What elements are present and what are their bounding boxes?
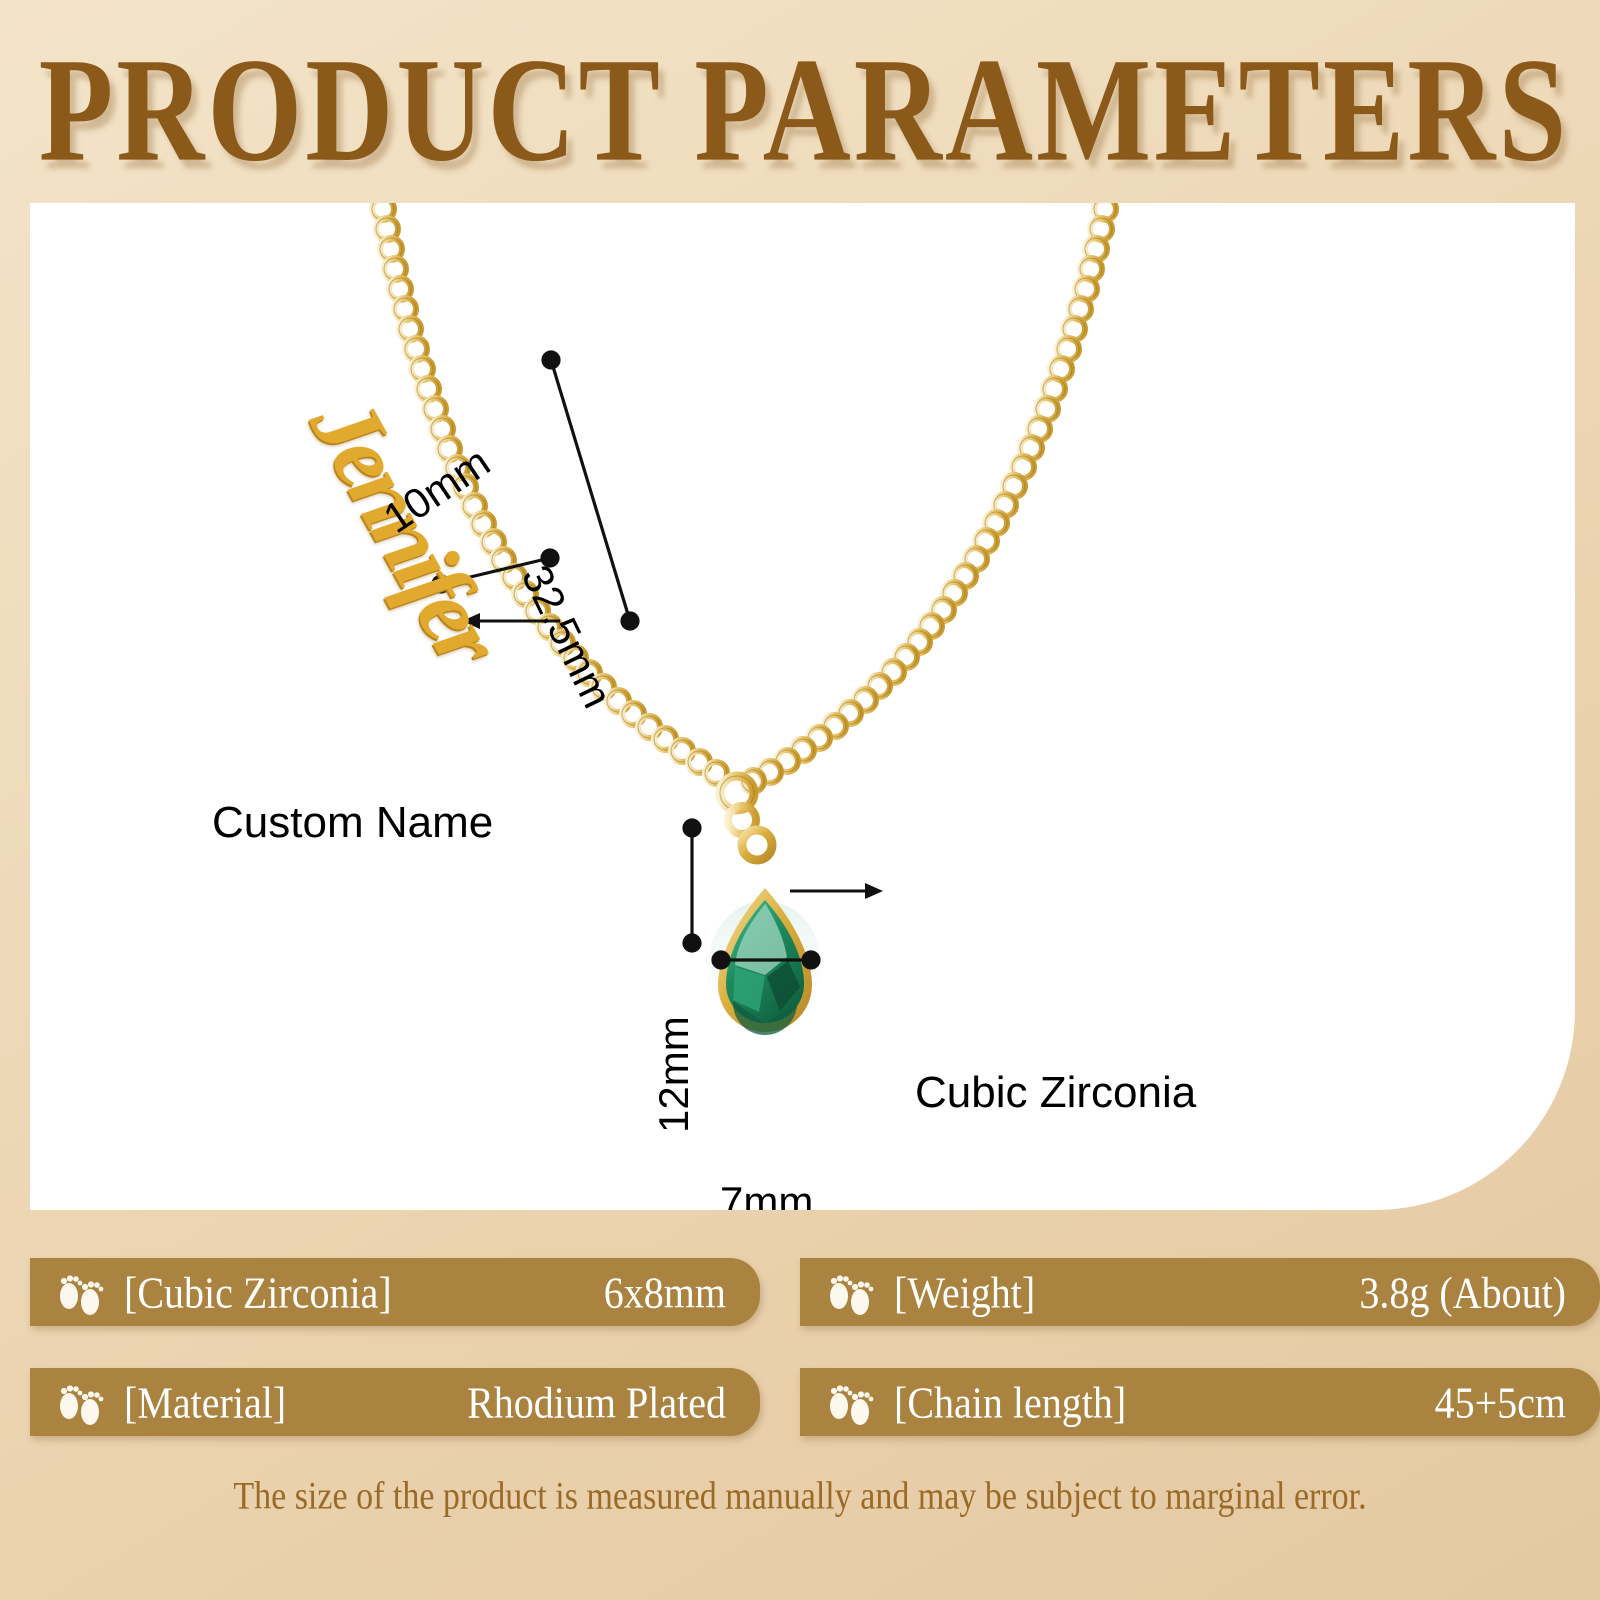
spec-row-chain-length: [Chain length] 45+5cm — [800, 1368, 1600, 1436]
spec-key: [Chain length] — [894, 1376, 1126, 1428]
callout-lines — [433, 352, 883, 968]
spec-row-material: [Material] Rhodium Plated — [30, 1368, 760, 1436]
disclaimer-note: The size of the product is measured manu… — [0, 1475, 1600, 1519]
callout-gem-width: 7mm — [720, 1178, 813, 1210]
spec-value: 45+5cm — [1435, 1376, 1566, 1428]
spec-key: [Material] — [124, 1376, 286, 1428]
header-banner: PRODUCT PARAMETERS — [0, 0, 1600, 196]
spec-value: 3.8g (About) — [1359, 1266, 1566, 1318]
spec-row-weight: [Weight] 3.8g (About) — [800, 1258, 1600, 1326]
footprints-icon — [54, 1378, 106, 1426]
callout-gem-height: 12mm — [650, 1016, 698, 1133]
footprints-icon — [824, 1378, 876, 1426]
chain-right-strand — [742, 203, 1116, 792]
callout-custom-name: Custom Name — [212, 798, 493, 848]
product-photo-panel: Jennifer 10mm 32.5mm 12mm 7mm Custom Nam… — [30, 203, 1575, 1210]
spec-value: Rhodium Plated — [467, 1376, 726, 1428]
chain-jump-ring — [720, 776, 756, 834]
footprints-icon — [54, 1268, 106, 1316]
spec-key: [Cubic Zirconia] — [124, 1266, 392, 1318]
spec-row-cubic-zirconia: [Cubic Zirconia] 6x8mm — [30, 1258, 760, 1326]
footprints-icon — [824, 1268, 876, 1316]
necklace-chain-illustration — [30, 203, 1575, 1210]
spec-value: 6x8mm — [604, 1266, 726, 1318]
page-title: PRODUCT PARAMETERS — [34, 34, 1574, 193]
spec-key: [Weight] — [894, 1266, 1035, 1318]
callout-cubic-zirconia: Cubic Zirconia — [915, 1068, 1196, 1118]
